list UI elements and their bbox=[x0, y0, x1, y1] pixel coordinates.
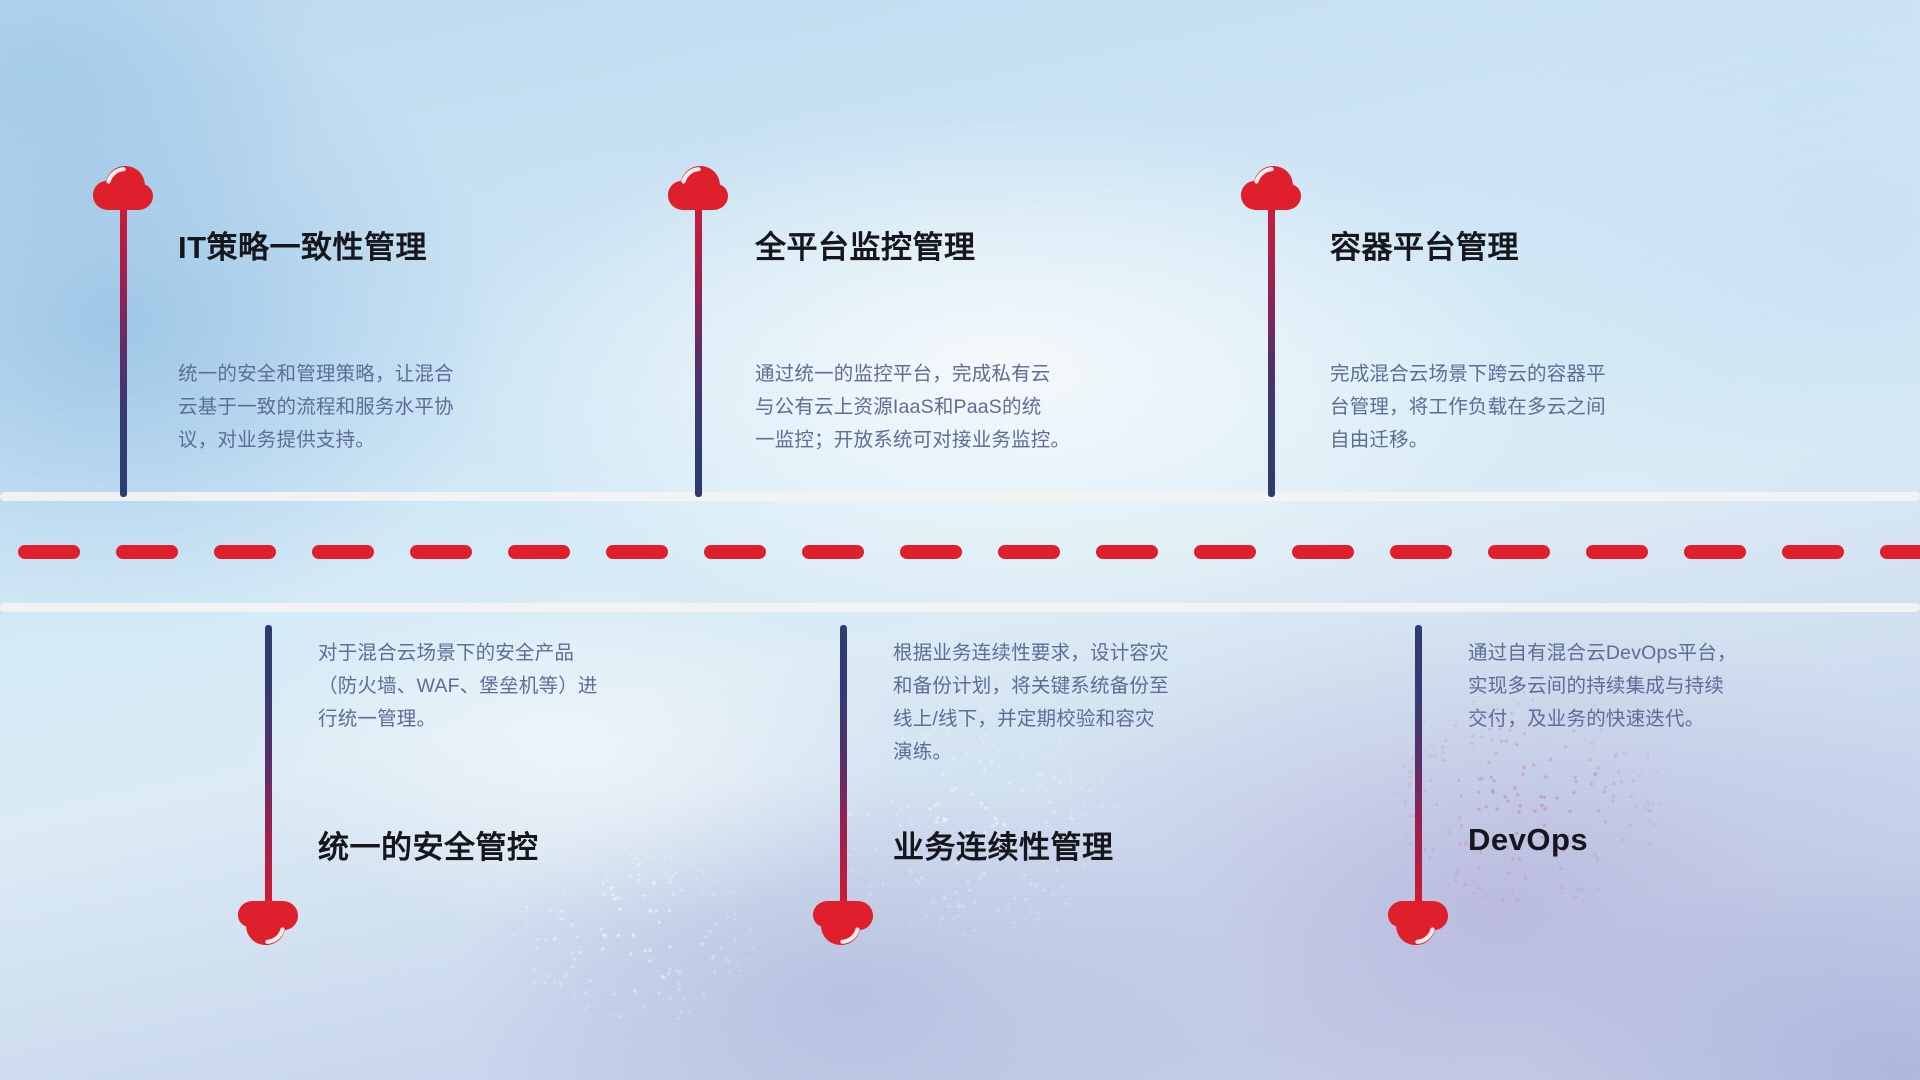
heading-bottom-3: DevOps bbox=[1468, 822, 1588, 858]
road-dash bbox=[214, 545, 276, 559]
road-dash bbox=[18, 545, 80, 559]
heading-top-1: IT策略一致性管理 bbox=[178, 222, 427, 267]
cloud-icon bbox=[667, 165, 729, 211]
pin-stem bbox=[1268, 197, 1275, 497]
road-dash bbox=[116, 545, 178, 559]
road-dash bbox=[998, 545, 1060, 559]
road-dash bbox=[1292, 545, 1354, 559]
cloud-icon bbox=[1240, 165, 1302, 211]
heading-bottom-1: 统一的安全管控 bbox=[318, 822, 539, 867]
cloud-icon bbox=[237, 900, 299, 946]
heading-top-2: 全平台监控管理 bbox=[755, 222, 976, 267]
pin-stem bbox=[1415, 625, 1422, 908]
road-rail-top bbox=[0, 492, 1920, 501]
pin-stem bbox=[265, 625, 272, 908]
road-dash-track bbox=[0, 545, 1920, 559]
road-dash bbox=[1684, 545, 1746, 559]
road-dash bbox=[1096, 545, 1158, 559]
heading-bottom-2: 业务连续性管理 bbox=[893, 822, 1114, 867]
road-dash bbox=[802, 545, 864, 559]
body-bottom-3: 通过自有混合云DevOps平台， 实现多云间的持续集成与持续 交付，及业务的快速… bbox=[1468, 637, 1908, 736]
road-dash bbox=[1194, 545, 1256, 559]
cloud-icon bbox=[1387, 900, 1449, 946]
body-top-3: 完成混合云场景下跨云的容器平 台管理，将工作负载在多云之间 自由迁移。 bbox=[1330, 358, 1780, 457]
road-dash bbox=[1488, 545, 1550, 559]
infographic-canvas: IT策略一致性管理 统一的安全和管理策略，让混合 云基于一致的流程和服务水平协 … bbox=[0, 0, 1920, 1080]
road-dash bbox=[1782, 545, 1844, 559]
road-divider bbox=[0, 492, 1920, 612]
road-rail-bottom bbox=[0, 603, 1920, 612]
road-dash bbox=[900, 545, 962, 559]
heading-top-3: 容器平台管理 bbox=[1330, 222, 1519, 267]
road-dash bbox=[606, 545, 668, 559]
body-top-2: 通过统一的监控平台，完成私有云 与公有云上资源IaaS和PaaS的统 一监控；开… bbox=[755, 358, 1225, 457]
pin-stem bbox=[840, 625, 847, 908]
body-bottom-2: 根据业务连续性要求，设计容灾 和备份计划，将关键系统备份至 线上/线下，并定期校… bbox=[893, 637, 1343, 769]
road-dash bbox=[410, 545, 472, 559]
road-dash bbox=[1390, 545, 1452, 559]
body-top-1: 统一的安全和管理策略，让混合 云基于一致的流程和服务水平协 议，对业务提供支持。 bbox=[178, 358, 618, 457]
road-dash bbox=[1880, 545, 1920, 559]
body-bottom-1: 对于混合云场景下的安全产品 （防火墙、WAF、堡垒机等）进 行统一管理。 bbox=[318, 637, 758, 736]
cloud-icon bbox=[812, 900, 874, 946]
pin-stem bbox=[695, 197, 702, 497]
decorative-dots-left bbox=[500, 840, 760, 1030]
road-dash bbox=[312, 545, 374, 559]
road-dash bbox=[1586, 545, 1648, 559]
road-dash bbox=[508, 545, 570, 559]
road-dash bbox=[704, 545, 766, 559]
pin-stem bbox=[120, 197, 127, 497]
cloud-icon bbox=[92, 165, 154, 211]
